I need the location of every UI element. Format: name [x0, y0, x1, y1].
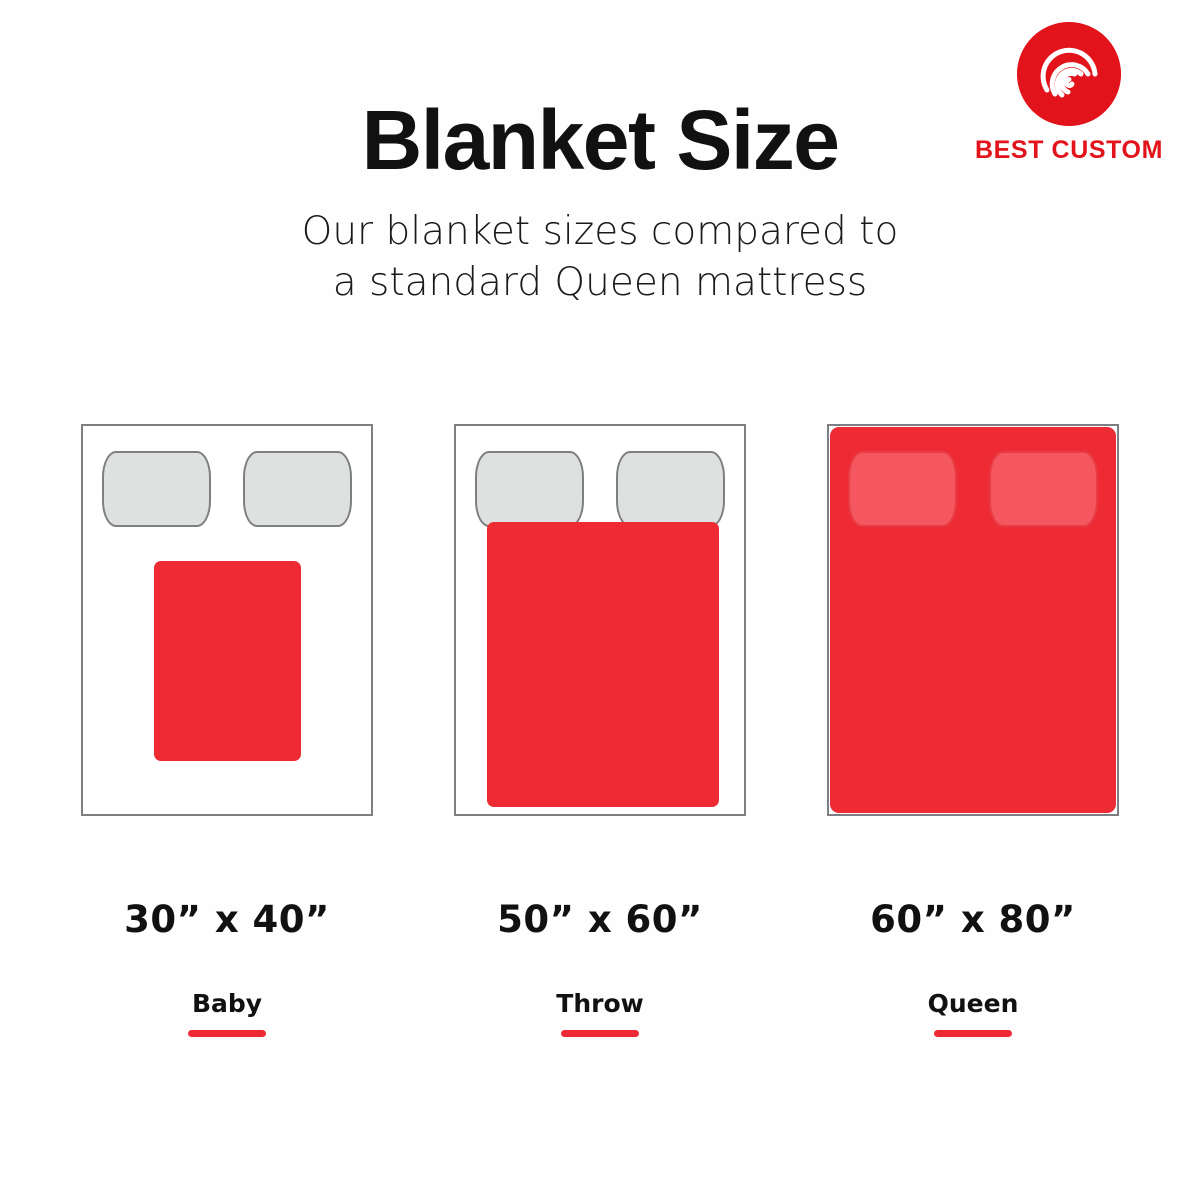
bed-diagrams — [0, 424, 1200, 816]
name-underline — [934, 1030, 1012, 1037]
dimension-text: 60” x 80” — [827, 898, 1119, 941]
bed-diagram-throw — [454, 424, 746, 816]
dimension-text: 50” x 60” — [454, 898, 746, 941]
bed-diagram-queen — [827, 424, 1119, 816]
size-label-throw: 50” x 60” Throw — [454, 898, 746, 1037]
size-labels: 30” x 40” Baby 50” x 60” Throw 60” x 80”… — [0, 898, 1200, 1048]
size-label-queen: 60” x 80” Queen — [827, 898, 1119, 1037]
size-name-text: Baby — [81, 989, 373, 1018]
size-label-baby: 30” x 40” Baby — [81, 898, 373, 1037]
pillow-left — [102, 451, 211, 527]
page-subtitle: Our blanket sizes compared to a standard… — [220, 206, 980, 309]
pillow-right — [243, 451, 352, 527]
page-subtitle-line-1: Our blanket sizes compared to — [220, 206, 980, 257]
page-title: Blanket Size — [0, 98, 1200, 184]
pillow-right — [616, 451, 725, 527]
name-underline — [561, 1030, 639, 1037]
blanket-size-infographic: { "brand": { "logo_icon": "fingerprint-c… — [0, 0, 1200, 1200]
pillow-right — [989, 451, 1098, 527]
size-name-text: Throw — [454, 989, 746, 1018]
size-name-text: Queen — [827, 989, 1119, 1018]
pillow-left — [475, 451, 584, 527]
name-underline — [188, 1030, 266, 1037]
blanket-baby — [154, 561, 301, 761]
bed-diagram-baby — [81, 424, 373, 816]
dimension-text: 30” x 40” — [81, 898, 373, 941]
pillow-left — [848, 451, 957, 527]
header: Blanket Size Our blanket sizes compared … — [0, 98, 1200, 309]
blanket-throw — [487, 522, 719, 807]
page-subtitle-line-2: a standard Queen mattress — [220, 257, 980, 308]
